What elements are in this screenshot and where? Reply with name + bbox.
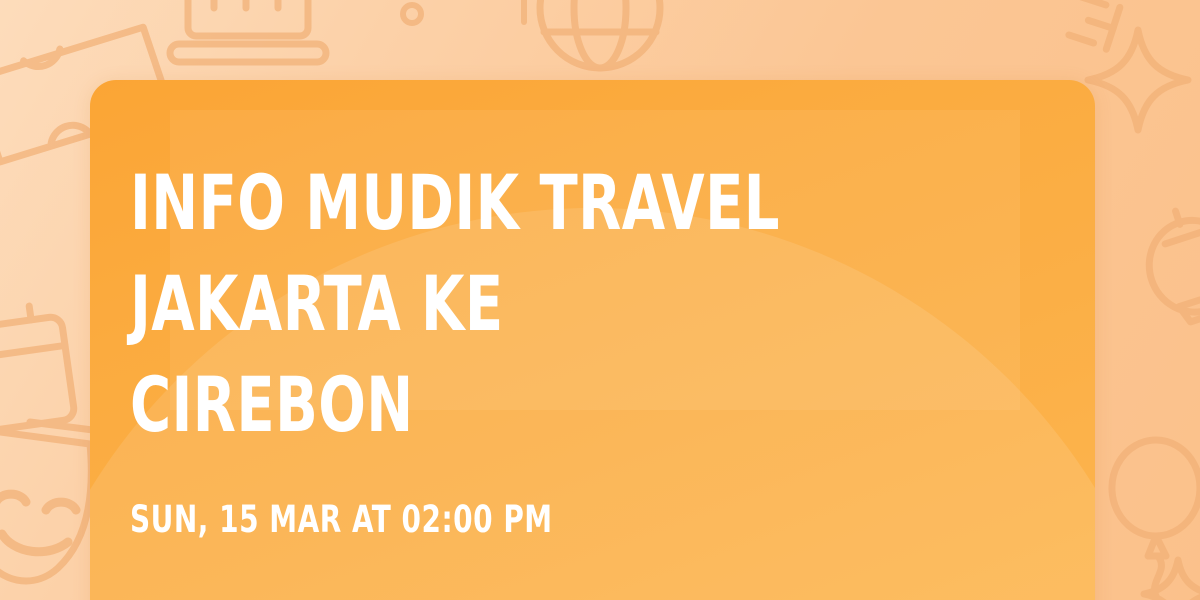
sparkle-icon [1088,30,1188,130]
megaphone-icon [1068,0,1120,49]
laptop-icon [170,0,326,62]
globe-icon [540,0,660,68]
event-card[interactable]: INFO MUDIK TRAVEL JAKARTA KE CIREBON SUN… [90,80,1095,600]
event-card-content: INFO MUDIK TRAVEL JAKARTA KE CIREBON SUN… [130,152,1055,538]
event-title: INFO MUDIK TRAVEL JAKARTA KE CIREBON [130,152,889,455]
confetti-dot-icon [403,5,421,23]
sparkle-icon [1144,560,1200,600]
lantern-icon [1134,197,1200,359]
event-banner: INFO MUDIK TRAVEL JAKARTA KE CIREBON SUN… [0,0,1200,600]
event-datetime: SUN, 15 MAR AT 02:00 PM [130,501,907,538]
calendar-icon [0,302,75,435]
